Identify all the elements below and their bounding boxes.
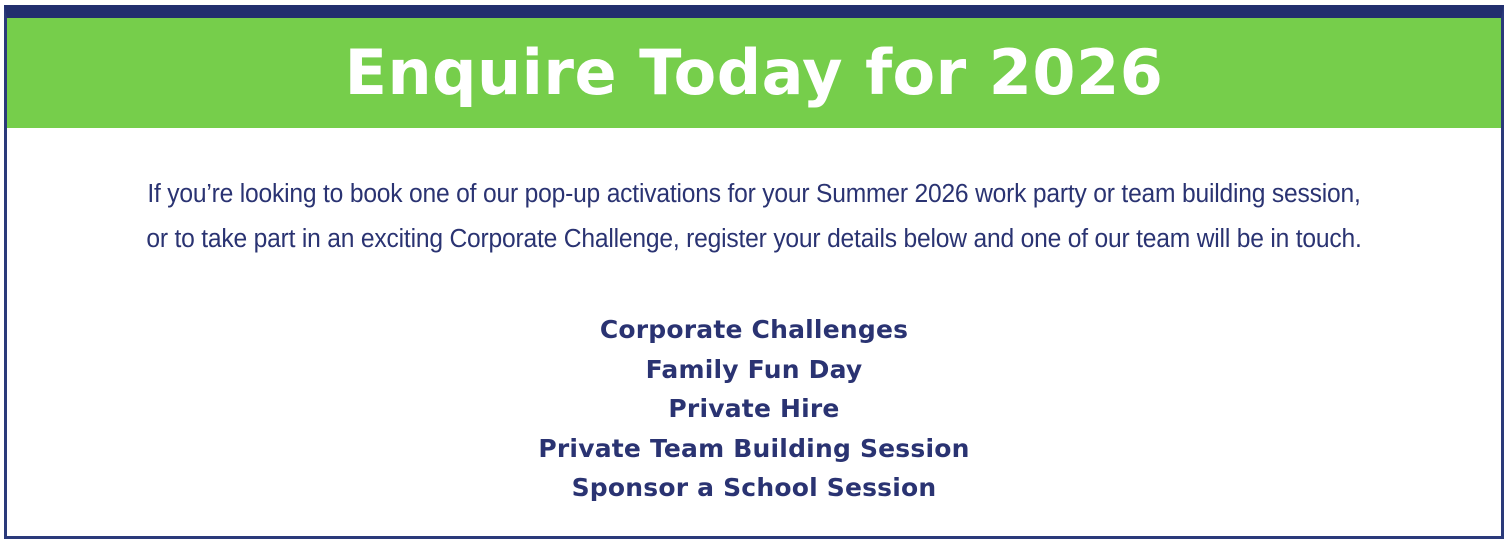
list-item: Family Fun Day — [7, 350, 1501, 390]
page-title: Enquire Today for 2026 — [345, 42, 1164, 104]
header-banner: Enquire Today for 2026 — [7, 18, 1501, 128]
list-item: Sponsor a School Session — [7, 468, 1501, 508]
enquiry-card: Enquire Today for 2026 If you’re looking… — [4, 5, 1504, 539]
list-item: Private Team Building Session — [7, 429, 1501, 469]
list-item: Private Hire — [7, 389, 1501, 429]
intro-line-1: If you’re looking to book one of our pop… — [147, 180, 1360, 208]
service-options-list: Corporate Challenges Family Fun Day Priv… — [7, 262, 1501, 508]
intro-paragraph: If you’re looking to book one of our pop… — [33, 128, 1475, 262]
intro-line-2: or to take part in an exciting Corporate… — [146, 225, 1361, 253]
card-body: If you’re looking to book one of our pop… — [7, 128, 1501, 508]
list-item: Corporate Challenges — [7, 310, 1501, 350]
